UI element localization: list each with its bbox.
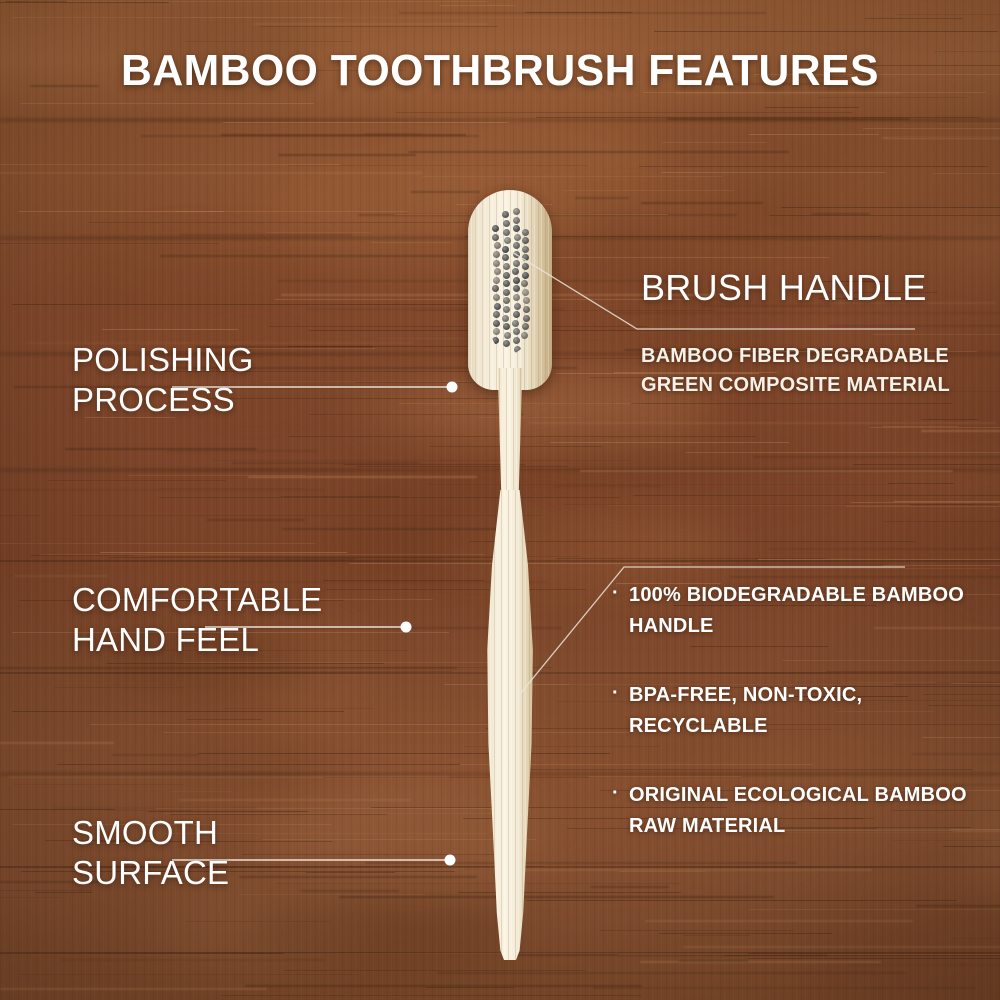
list-item: · ORIGINAL ECOLOGICAL BAMBOO RAW MATERIA… — [612, 780, 992, 842]
page-title: BAMBOO TOOTHBRUSH FEATURES — [15, 46, 985, 96]
callout-comfortable-line2: HAND FEEL — [72, 620, 322, 660]
infographic-canvas: BAMBOO TOOTHBRUSH FEATURES POLIS — [0, 0, 1000, 1000]
list-item: · 100% BIODEGRADABLE BAMBOO HANDLE — [612, 580, 992, 642]
bullet-marker: · — [612, 678, 619, 709]
bullet-2-line1: ORIGINAL ECOLOGICAL BAMBOO — [629, 780, 992, 811]
bullet-marker: · — [612, 778, 619, 809]
callout-polishing-line1: POLISHING — [72, 341, 254, 378]
feature-bullet-list: · 100% BIODEGRADABLE BAMBOO HANDLE · BPA… — [612, 580, 992, 880]
bristles — [487, 204, 533, 354]
callout-smooth-surface: SMOOTH SURFACE — [72, 813, 229, 894]
callout-comfortable-line1: COMFORTABLE — [72, 581, 322, 618]
list-item: · BPA-FREE, NON-TOXIC, RECYCLABLE — [612, 680, 992, 742]
callout-polishing-process: POLISHING PROCESS — [72, 340, 254, 421]
bullet-0-line2: HANDLE — [629, 611, 992, 642]
bullet-0-line1: 100% BIODEGRADABLE BAMBOO — [629, 580, 992, 611]
bullet-1-line2: RECYCLABLE — [629, 711, 992, 742]
callout-brush-handle-subtext: BAMBOO FIBER DEGRADABLE GREEN COMPOSITE … — [641, 342, 950, 400]
callout-comfortable-hand-feel: COMFORTABLE HAND FEEL — [72, 580, 322, 661]
bullet-1-line1: BPA-FREE, NON-TOXIC, — [629, 680, 992, 711]
bullet-2-line2: RAW MATERIAL — [629, 811, 992, 842]
brush-head — [468, 190, 552, 390]
callout-brush-handle-heading: BRUSH HANDLE — [641, 267, 927, 309]
brush-handle-sub-line1: BAMBOO FIBER DEGRADABLE — [641, 342, 950, 371]
callout-polishing-line2: PROCESS — [72, 380, 254, 420]
callout-smooth-line2: SURFACE — [72, 853, 229, 893]
brush-handle — [480, 490, 540, 960]
bullet-marker: · — [612, 578, 619, 609]
brush-handle-sub-line2: GREEN COMPOSITE MATERIAL — [641, 371, 950, 400]
callout-smooth-line1: SMOOTH — [72, 814, 218, 851]
bamboo-toothbrush-image — [440, 190, 580, 960]
